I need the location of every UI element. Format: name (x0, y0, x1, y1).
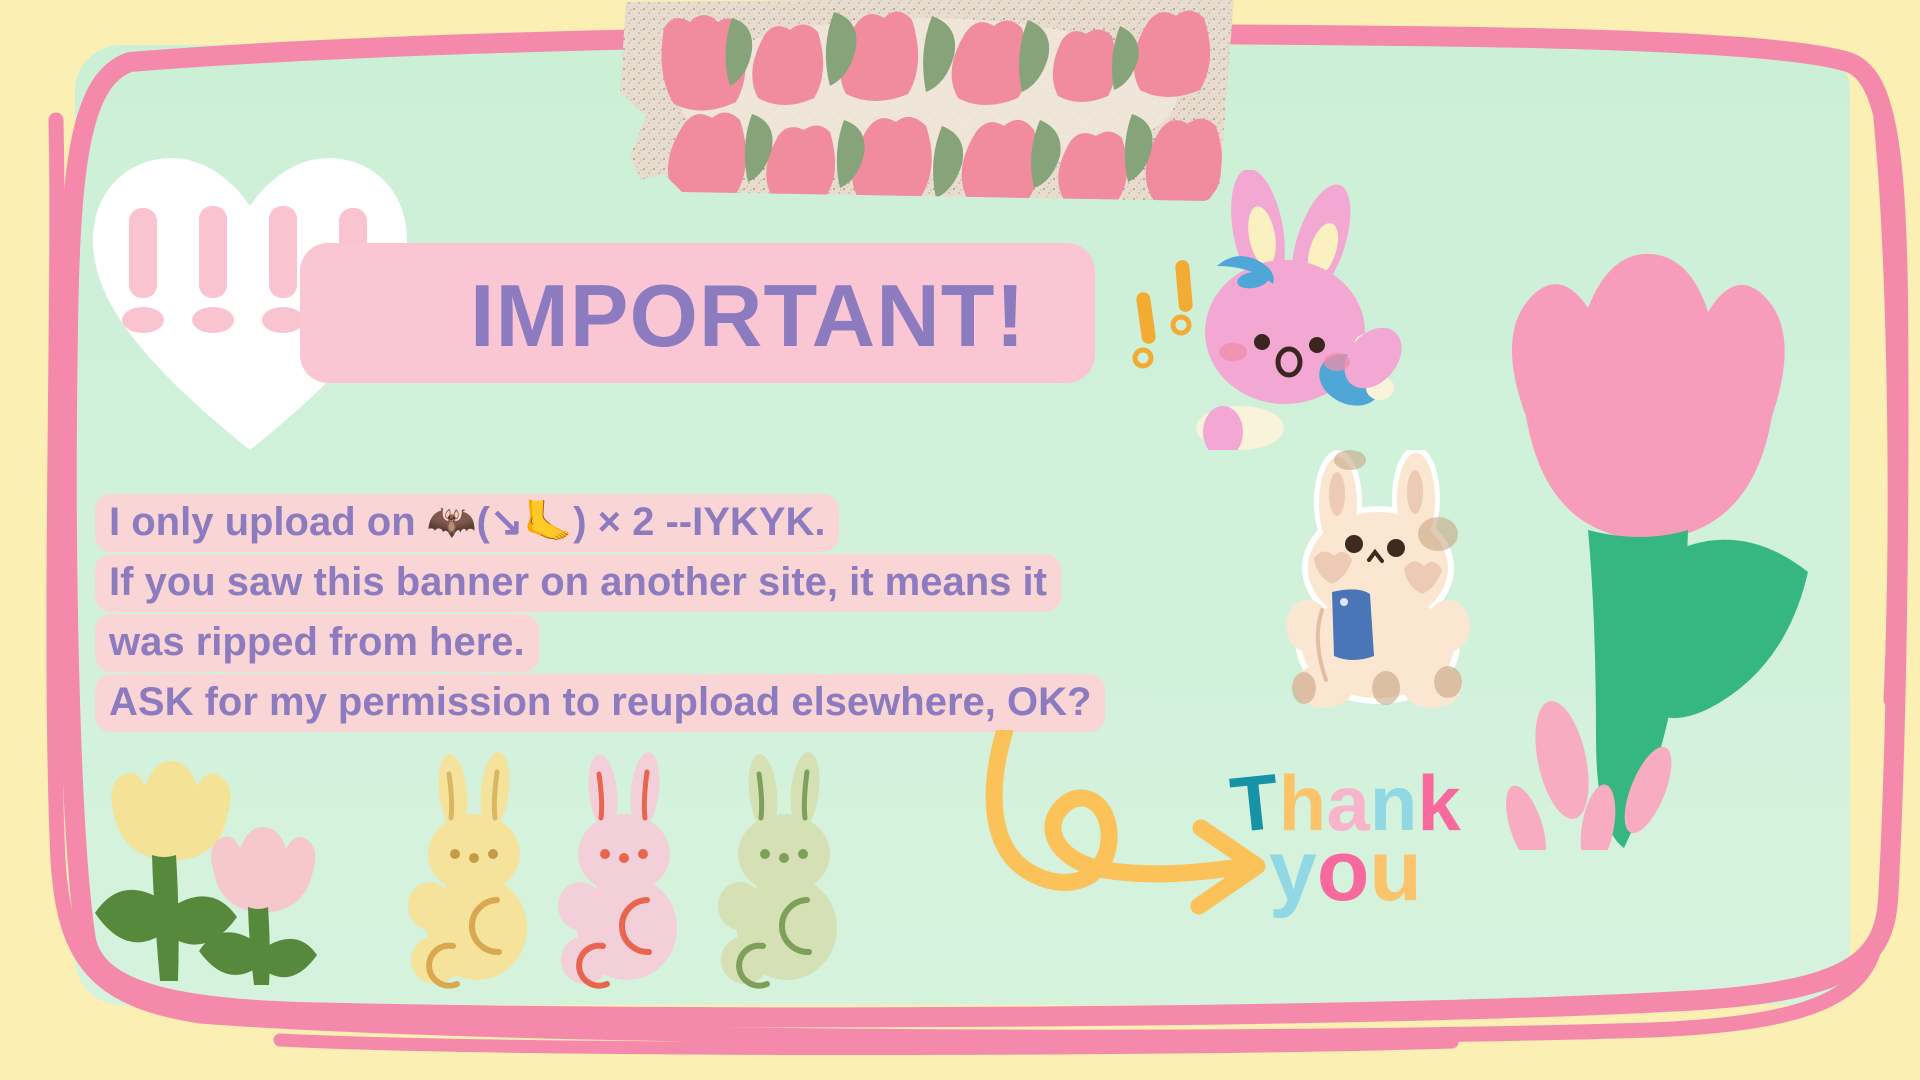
notice-line-4-text: ASK for my permission to reupload elsewh… (95, 674, 1105, 732)
tulip-leaf (1642, 540, 1808, 718)
blue-phone (1332, 589, 1374, 660)
thank-you-bottom-word: you (1269, 822, 1422, 921)
notice-text-block: I only upload on 🦇(↘🦶) × 2 --IYKYK. If y… (95, 492, 1195, 732)
notice-line-2: If you saw this banner on another site, … (95, 552, 1195, 612)
thankyou-letter-y: y (1269, 822, 1317, 921)
thankyou-letter-o: o (1317, 822, 1370, 921)
notice-line-2-text: If you saw this banner on another site, … (95, 554, 1061, 612)
banner-canvas: IMPORTANT! I only upload on 🦇(↘🦶) × 2 --… (0, 0, 1920, 1080)
small-tulips-group (95, 755, 345, 985)
tulip-petals (1512, 254, 1785, 540)
bunny-cookie-yellow (408, 751, 527, 986)
thankyou-letter-k: k (1417, 758, 1460, 849)
notice-line-4: ASK for my permission to reupload elsewh… (95, 672, 1195, 732)
thank-you-lettering: Thank you (1225, 758, 1525, 958)
large-pink-tulip (1440, 230, 1840, 850)
notice-line-1-text: I only upload on 🦇(↘🦶) × 2 --IYKYK. (95, 494, 839, 552)
thankyou-letter-u: u (1369, 822, 1422, 921)
notice-line-3: was ripped from here. (95, 612, 1195, 672)
bunny-body (1196, 170, 1413, 450)
exclamation-marks-orange (1135, 259, 1193, 366)
notice-line-1: I only upload on 🦇(↘🦶) × 2 --IYKYK. (95, 492, 1195, 552)
bunny-cookie-pink (558, 751, 677, 986)
bunny-cookie-green (718, 751, 837, 986)
page-title: IMPORTANT! (470, 268, 1110, 363)
pink-bunny-sticker (1125, 170, 1415, 450)
bunny-cookies-group (405, 750, 945, 990)
notice-line-3-text: was ripped from here. (95, 614, 539, 672)
